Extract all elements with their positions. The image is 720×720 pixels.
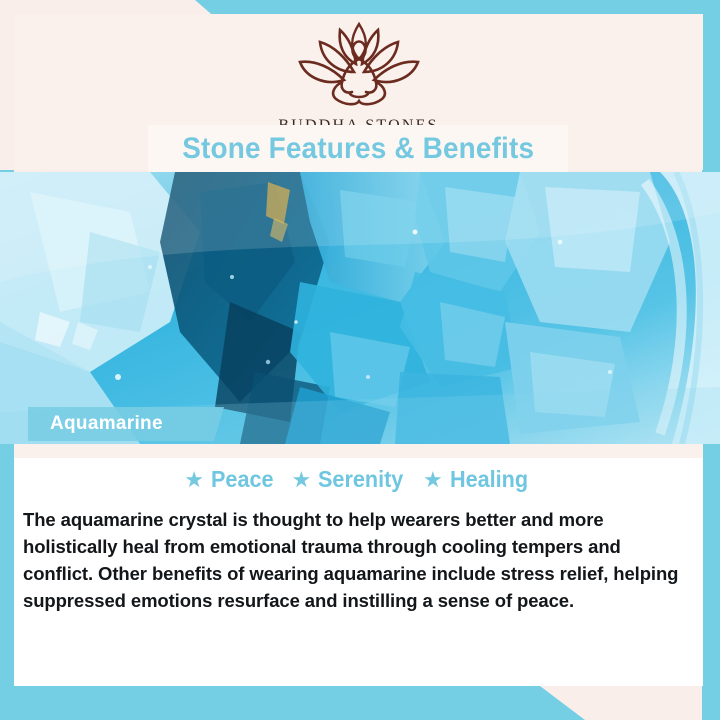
benefit-label: Serenity xyxy=(318,466,403,493)
benefit-label: Healing xyxy=(450,466,528,493)
benefit-label: Peace xyxy=(211,466,274,493)
brand-logo: BUDDHA STONES xyxy=(14,18,703,135)
content-panel: ★ Peace ★ Serenity ★ Healing The aquamar… xyxy=(14,458,703,686)
benefit-item-peace: ★ Peace xyxy=(184,466,277,493)
crystal-photo xyxy=(0,172,720,444)
cream-divider-strip xyxy=(14,444,703,458)
benefit-item-serenity: ★ Serenity xyxy=(291,466,409,493)
page-title: Stone Features & Benefits xyxy=(182,132,534,166)
benefits-row: ★ Peace ★ Serenity ★ Healing xyxy=(14,466,703,493)
star-icon: ★ xyxy=(184,469,204,491)
star-icon: ★ xyxy=(423,469,443,491)
stone-name: Aquamarine xyxy=(28,413,163,435)
bottom-accent-bar xyxy=(0,686,720,720)
stone-name-badge: Aquamarine xyxy=(28,407,224,441)
page-title-band: Stone Features & Benefits xyxy=(148,125,568,173)
lotus-meditation-icon xyxy=(14,18,703,115)
benefit-item-healing: ★ Healing xyxy=(423,466,533,493)
description-text: The aquamarine crystal is thought to hel… xyxy=(23,506,691,614)
infographic-page: BUDDHA STONES Stone Features & Benefits xyxy=(0,0,720,720)
star-icon: ★ xyxy=(291,469,311,491)
